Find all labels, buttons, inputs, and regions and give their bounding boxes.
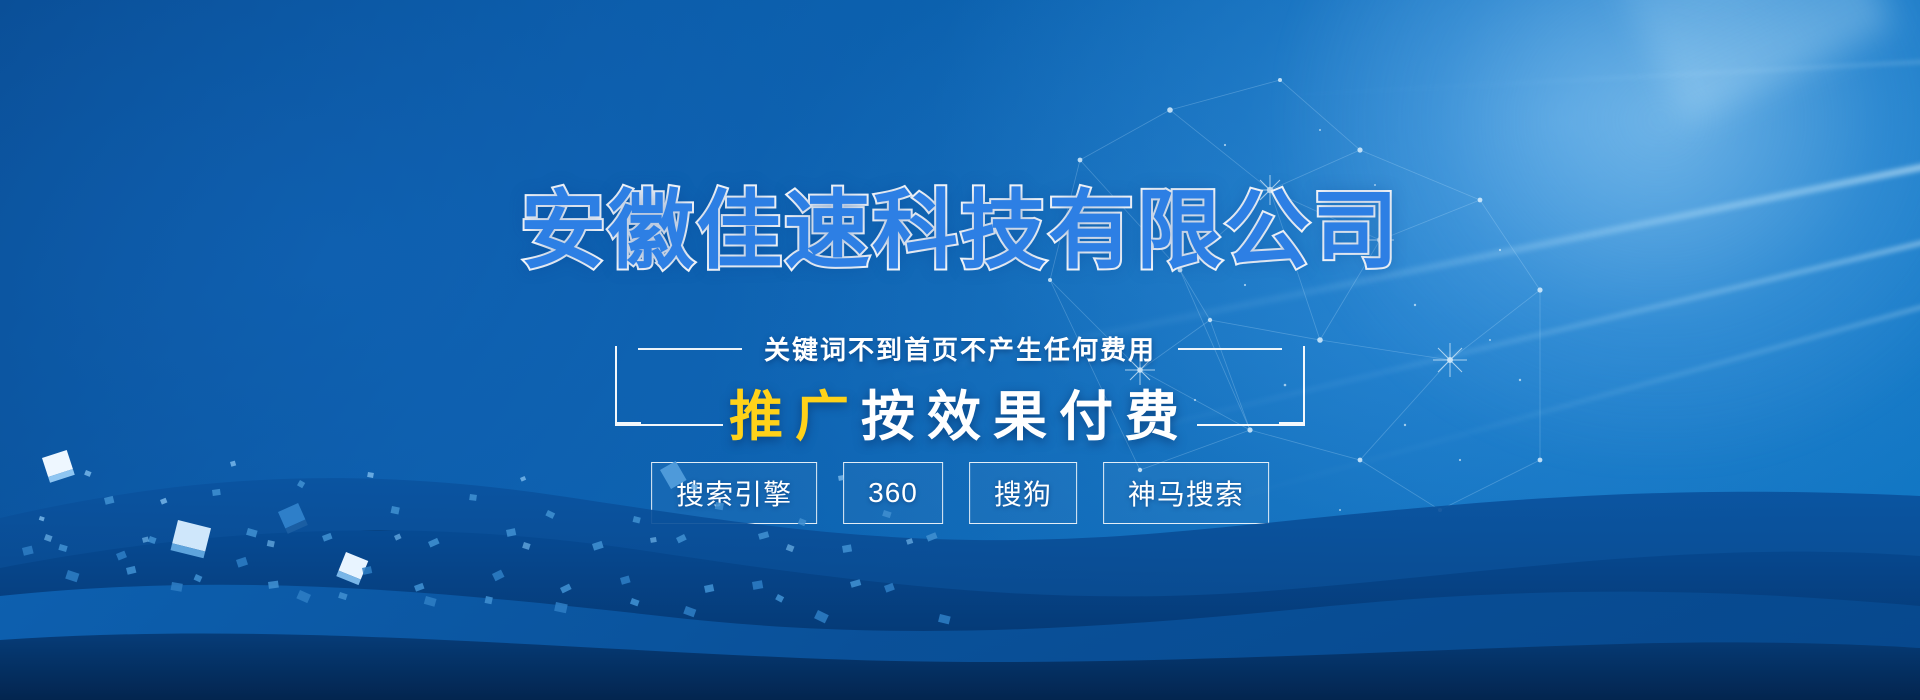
- subtitle-rule-left: [638, 348, 742, 350]
- engine-button-sogou[interactable]: 搜狗: [969, 462, 1077, 524]
- banner-content: 安徽佳速科技有限公司 关键词不到首页不产生任何费用 推广按效果付费 搜索引擎 3…: [0, 0, 1920, 700]
- bracket-rule-bottom-left: [615, 424, 723, 426]
- bracket-rule-bottom-right: [1197, 424, 1305, 426]
- page-title: 安徽佳速科技有限公司: [520, 185, 1400, 278]
- engine-button-shenma[interactable]: 神马搜索: [1103, 462, 1269, 524]
- engine-button-360[interactable]: 360: [843, 462, 943, 524]
- engine-button-search-engine[interactable]: 搜索引擎: [651, 462, 817, 524]
- subtitle-rule-right: [1178, 348, 1282, 350]
- promo-banner: 安徽佳速科技有限公司 关键词不到首页不产生任何费用 推广按效果付费 搜索引擎 3…: [0, 0, 1920, 700]
- headline-rest-text: 按效果付费: [861, 387, 1191, 447]
- search-engine-button-row: 搜索引擎 360 搜狗 神马搜索: [651, 462, 1269, 524]
- subtitle-row: 关键词不到首页不产生任何费用: [638, 330, 1282, 367]
- bracket-corner-top-right: [1279, 346, 1305, 424]
- headline-accent-text: 推广: [729, 387, 861, 447]
- headline: 推广按效果付费: [729, 372, 1191, 451]
- subtitle-text: 关键词不到首页不产生任何费用: [764, 330, 1156, 367]
